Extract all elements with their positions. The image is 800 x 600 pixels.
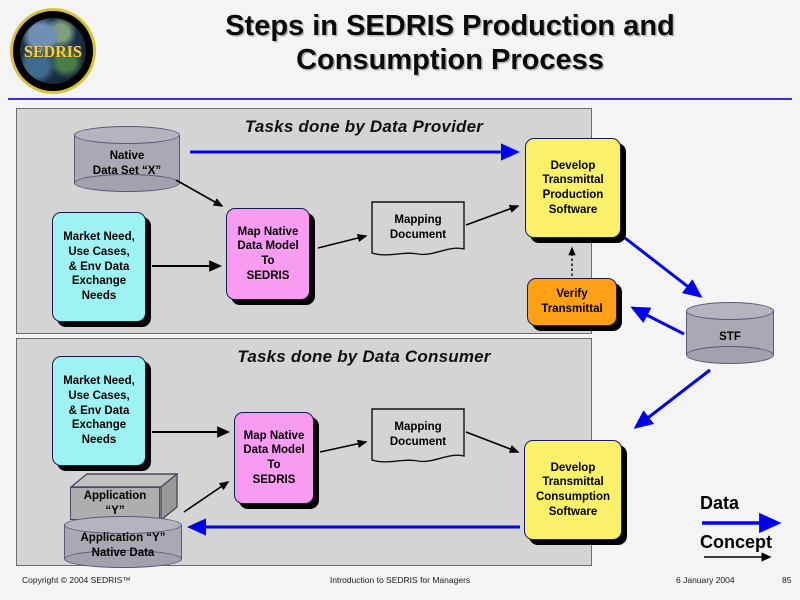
stf-cylinder: STF bbox=[686, 302, 774, 364]
application-y-line1: Application bbox=[84, 489, 147, 504]
arrow-stf-to-consumption-software bbox=[636, 370, 710, 427]
mapping-doc-consumer-line1: Mapping bbox=[371, 420, 465, 435]
map-native-consumer-label: Map Native Data Model To SEDRIS bbox=[243, 429, 304, 488]
native-data-set-cylinder: Native Data Set “X” bbox=[74, 126, 180, 192]
native-data-set-label: Native Data Set “X” bbox=[74, 126, 180, 192]
market-need-box-provider[interactable]: Market Need, Use Cases, & Env Data Excha… bbox=[52, 212, 146, 322]
legend-data-row bbox=[700, 513, 796, 529]
develop-consumption-software-label: Develop Transmittal Consumption Software bbox=[536, 461, 610, 520]
mapping-doc-consumer-line2: Document bbox=[371, 435, 465, 450]
legend-data-label: Data bbox=[700, 494, 796, 513]
app-y-native-line2: Native Data bbox=[92, 546, 155, 561]
mapping-document-consumer: Mapping Document bbox=[371, 408, 465, 468]
mapping-doc-provider-line2: Document bbox=[371, 228, 465, 243]
arrow-production-to-stf bbox=[625, 238, 700, 296]
arrow-stf-to-verify-transmittal bbox=[633, 308, 684, 334]
legend: Data Concept bbox=[700, 494, 796, 552]
market-need-provider-label: Market Need, Use Cases, & Env Data Excha… bbox=[63, 230, 135, 304]
map-native-box-consumer[interactable]: Map Native Data Model To SEDRIS bbox=[234, 412, 314, 504]
application-y-native-data-cylinder: Application “Y” Native Data bbox=[64, 516, 182, 568]
verify-transmittal-label: Verify Transmittal bbox=[541, 287, 602, 316]
map-native-provider-label: Map Native Data Model To SEDRIS bbox=[237, 225, 298, 284]
develop-consumption-software-box[interactable]: Develop Transmittal Consumption Software bbox=[524, 440, 622, 540]
footer-page-number: 85 bbox=[782, 575, 791, 585]
native-data-set-label-line2: Data Set “X” bbox=[93, 164, 161, 179]
app-y-native-line1: Application “Y” bbox=[81, 531, 166, 546]
title-divider bbox=[8, 98, 792, 100]
legend-concept-label: Concept bbox=[700, 533, 796, 552]
mapping-document-consumer-label: Mapping Document bbox=[371, 420, 465, 450]
slide: SEDRIS Steps in SEDRIS Production and Co… bbox=[0, 0, 800, 600]
page-title-line2: Consumption Process bbox=[110, 44, 790, 78]
logo-wordmark: SEDRIS bbox=[13, 44, 93, 63]
sedris-globe-logo: SEDRIS bbox=[10, 8, 96, 94]
verify-transmittal-box[interactable]: Verify Transmittal bbox=[527, 278, 617, 326]
map-native-box-provider[interactable]: Map Native Data Model To SEDRIS bbox=[226, 208, 310, 300]
market-need-box-consumer[interactable]: Market Need, Use Cases, & Env Data Excha… bbox=[52, 356, 146, 466]
page-title-line1: Steps in SEDRIS Production and bbox=[110, 10, 790, 44]
develop-production-software-box[interactable]: Develop Transmittal Production Software bbox=[525, 138, 621, 238]
develop-production-software-label: Develop Transmittal Production Software bbox=[542, 159, 603, 218]
application-y-cube: Application “Y” bbox=[70, 473, 178, 521]
footer-date: 6 January 2004 bbox=[676, 575, 735, 585]
application-y-native-data-label: Application “Y” Native Data bbox=[64, 516, 182, 568]
market-need-consumer-label: Market Need, Use Cases, & Env Data Excha… bbox=[63, 374, 135, 448]
mapping-document-provider-label: Mapping Document bbox=[371, 213, 465, 243]
native-data-set-label-line1: Native bbox=[110, 149, 145, 164]
stf-label: STF bbox=[686, 302, 774, 364]
mapping-document-provider: Mapping Document bbox=[371, 201, 465, 261]
mapping-doc-provider-line1: Mapping bbox=[371, 213, 465, 228]
page-title: Steps in SEDRIS Production and Consumpti… bbox=[110, 10, 790, 77]
